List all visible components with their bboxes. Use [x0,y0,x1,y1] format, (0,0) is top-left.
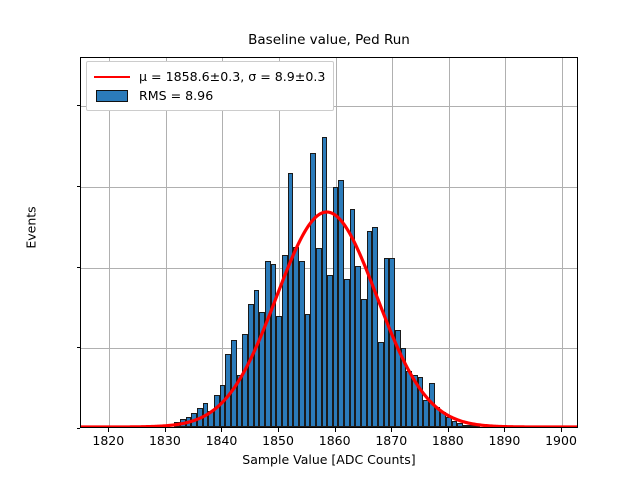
legend-item-fit: μ = 1858.6±0.3, σ = 8.9±0.3 [94,67,325,86]
grid-line-vertical [505,58,506,427]
plot-area [80,57,578,428]
y-tick-mark [77,428,81,429]
x-tick-mark [165,428,166,432]
y-tick-mark [77,105,81,106]
x-tick-label: 1840 [191,433,251,448]
plot-inner [81,58,577,427]
x-tick-mark [108,428,109,432]
histogram-bar [474,425,480,427]
chart-title: Baseline value, Ped Run [80,32,578,48]
x-tick-label: 1830 [135,433,195,448]
grid-line-horizontal [81,268,577,269]
legend-line-swatch [94,70,130,84]
x-tick-mark [278,428,279,432]
x-tick-mark [391,428,392,432]
x-tick-mark [561,428,562,432]
x-tick-label: 1880 [418,433,478,448]
legend-label-rms: RMS = 8.96 [139,88,213,103]
x-tick-label: 1850 [248,433,308,448]
grid-line-vertical [562,58,563,427]
x-tick-label: 1820 [78,433,138,448]
legend-label-fit: μ = 1858.6±0.3, σ = 8.9±0.3 [139,69,325,84]
grid-line-horizontal [81,187,577,188]
x-axis-label: Sample Value [ADC Counts] [80,452,578,467]
x-tick-mark [335,428,336,432]
x-tick-label: 1860 [305,433,365,448]
figure-canvas: Baseline value, Ped Run 1820183018401850… [0,0,640,480]
grid-line-vertical [222,58,223,427]
x-tick-mark [221,428,222,432]
legend-patch-swatch [94,89,130,103]
legend-item-rms: RMS = 8.96 [94,86,325,105]
y-tick-mark [77,267,81,268]
grid-line-vertical [166,58,167,427]
x-tick-mark [504,428,505,432]
x-tick-mark [448,428,449,432]
x-tick-label: 1900 [531,433,591,448]
grid-line-vertical [449,58,450,427]
y-axis-label: Events [24,168,39,288]
x-tick-label: 1870 [361,433,421,448]
x-tick-label: 1890 [474,433,534,448]
chart-legend: μ = 1858.6±0.3, σ = 8.9±0.3 RMS = 8.96 [86,61,334,111]
y-tick-mark [77,186,81,187]
y-tick-mark [77,347,81,348]
grid-line-vertical [109,58,110,427]
